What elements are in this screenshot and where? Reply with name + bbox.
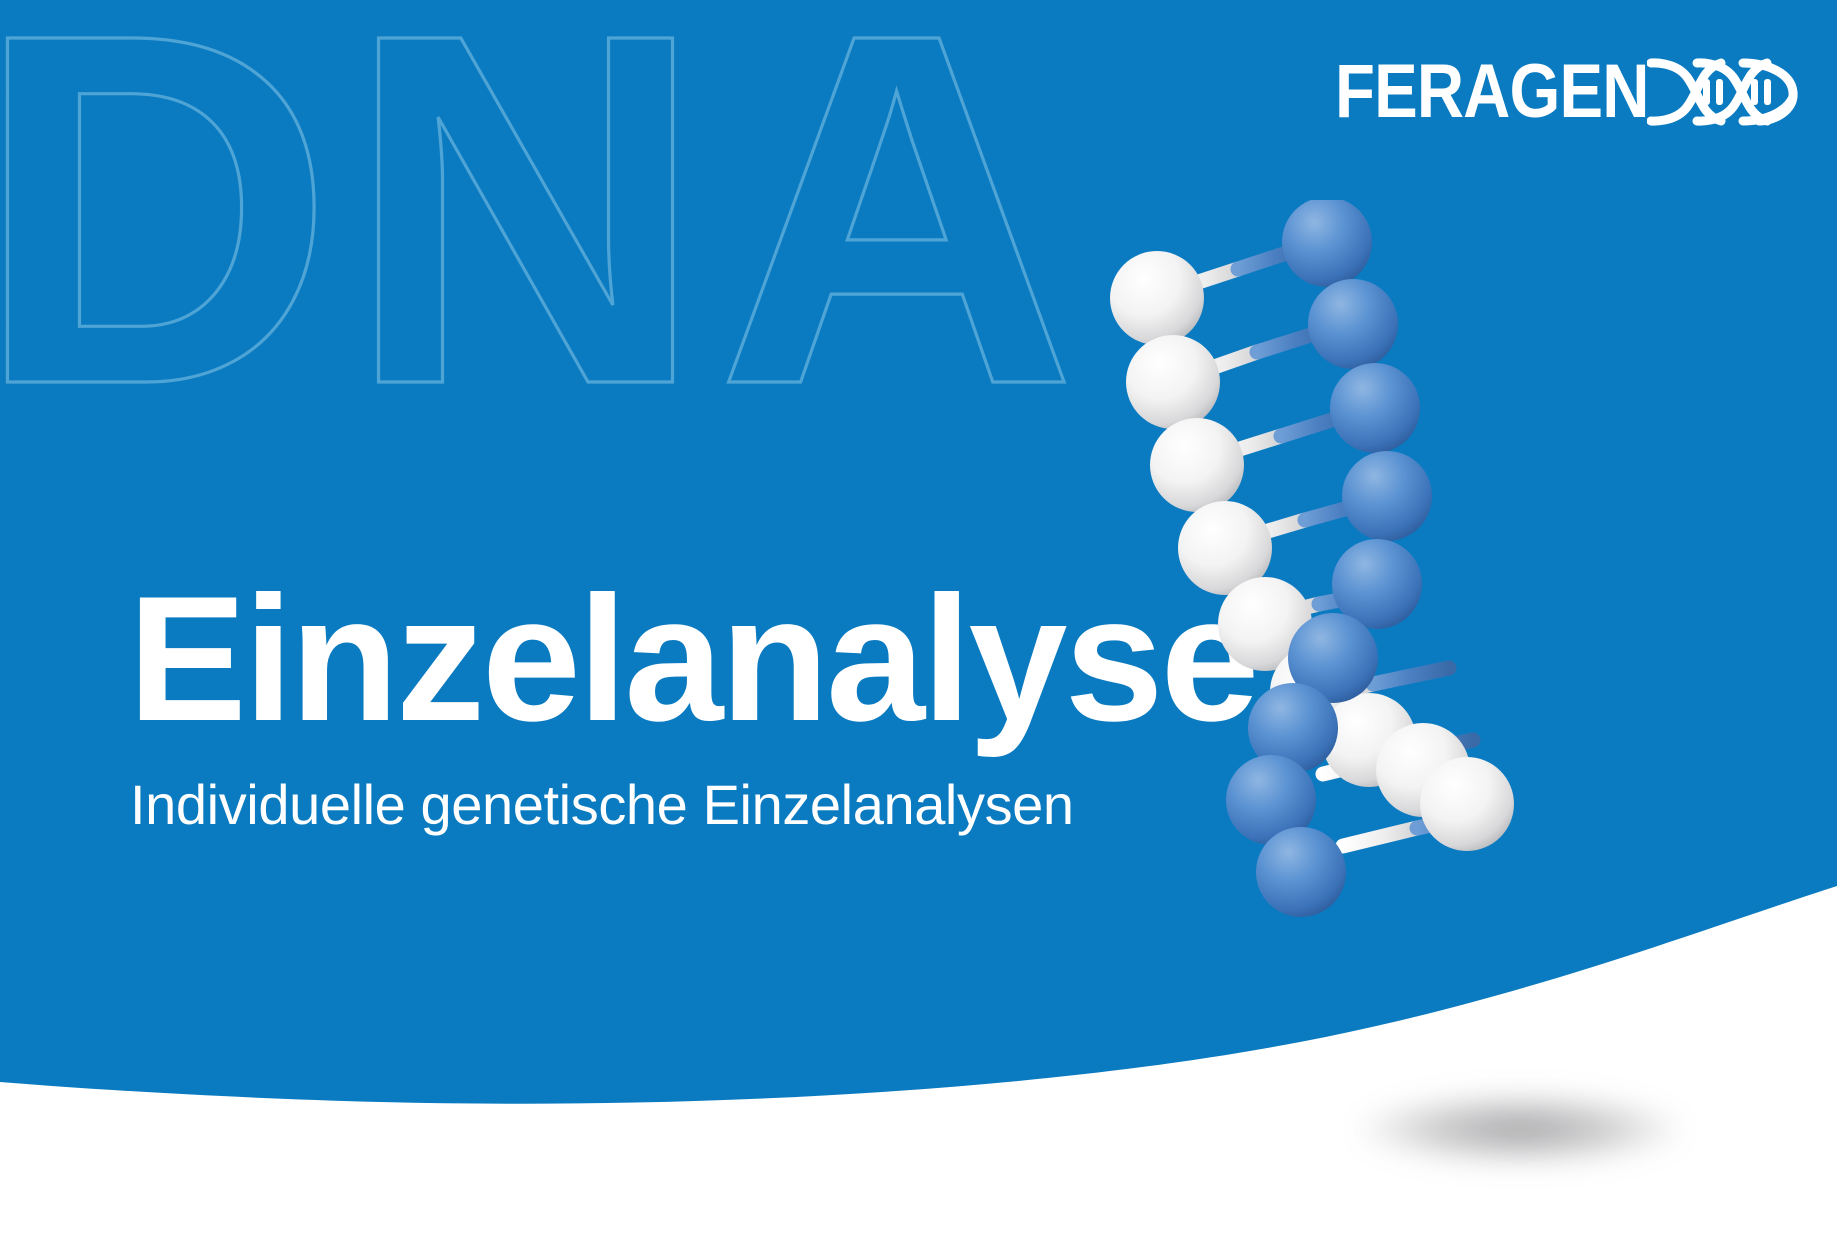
feragen-logo[interactable]: FERAGEN [1284,52,1799,132]
copy-block: Einzelanalyse Individuelle genetische Ei… [128,566,1308,838]
dna-einzelanalyse-banner: DNA FERAGEN Einzelanalyse Individuelle g [0,0,1837,1252]
dna-model-shadow [1360,1093,1680,1165]
dna-helix-icon [1647,53,1799,131]
page-title: Einzelanalyse [128,566,1308,752]
logo-wordmark: FERAGEN [1335,54,1649,130]
page-subtitle: Individuelle genetische Einzelanalysen [130,772,1308,838]
